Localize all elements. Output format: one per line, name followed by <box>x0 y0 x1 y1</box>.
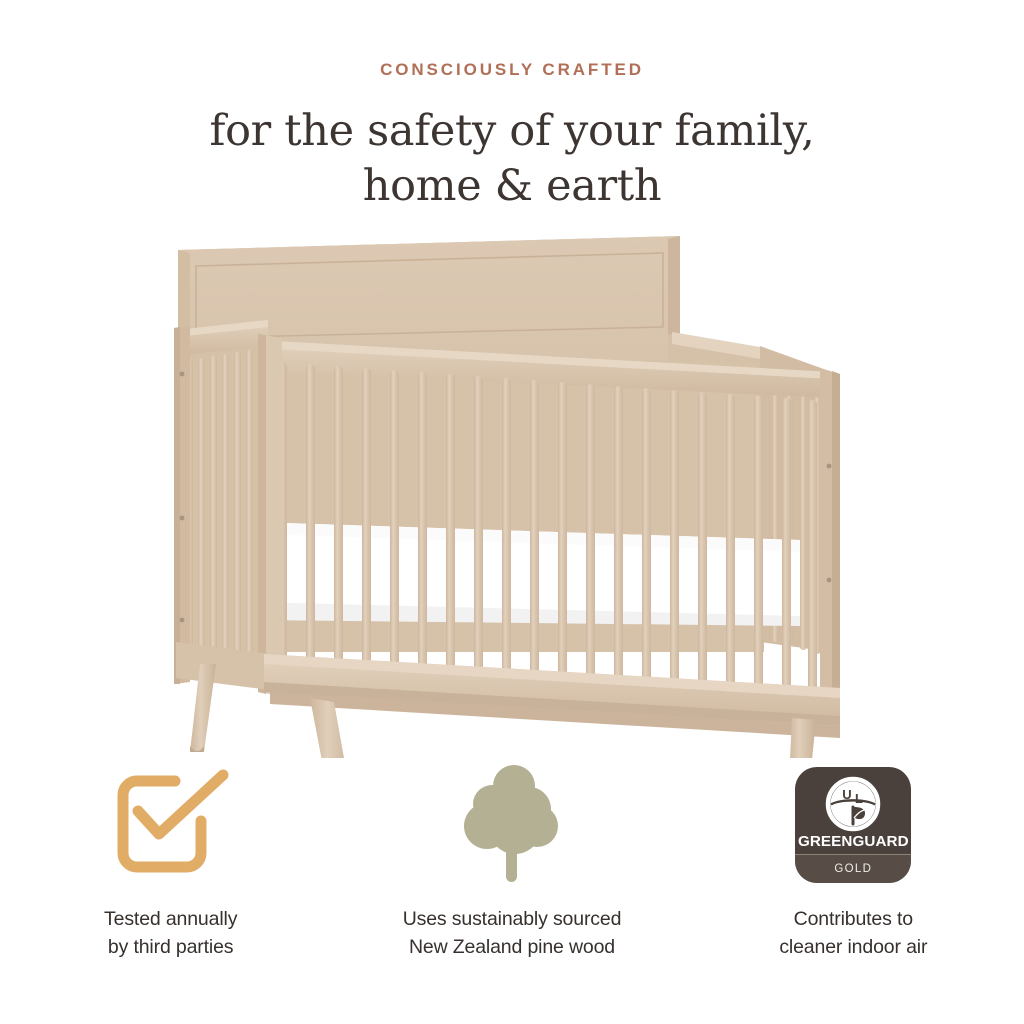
feature-caption: Tested annually by third parties <box>104 906 237 961</box>
feature-caption: Contributes to cleaner indoor air <box>779 906 927 961</box>
feature-tested-annually: Tested annually by third parties <box>0 762 341 961</box>
caption-line-1: Tested annually <box>104 908 237 930</box>
headline-line-2: home & earth <box>0 159 1024 214</box>
tree-icon <box>457 762 567 888</box>
feature-row: Tested annually by third parties <box>0 762 1024 961</box>
svg-text:L: L <box>855 791 863 806</box>
caption-line-2: New Zealand pine wood <box>403 934 622 962</box>
ul-leaf-mark-icon: U L <box>825 776 881 832</box>
feature-cleaner-air: U L GREENGUARD GOLD <box>683 762 1024 961</box>
page-title: for the safety of your family, home & ea… <box>0 104 1024 215</box>
promo-graphic: CONSCIOUSLY CRAFTED for the safety of yo… <box>0 0 1024 1024</box>
headline-line-1: for the safety of your family, <box>209 106 814 156</box>
feature-caption: Uses sustainably sourced New Zealand pin… <box>403 906 622 961</box>
greenguard-badge: U L GREENGUARD GOLD <box>795 767 911 883</box>
caption-line-1: Contributes to <box>794 908 913 930</box>
eyebrow-text: CONSCIOUSLY CRAFTED <box>0 60 1024 80</box>
caption-line-2: cleaner indoor air <box>779 934 927 962</box>
greenguard-gold-badge-icon: U L GREENGUARD GOLD <box>795 762 911 888</box>
badge-name: GREENGUARD <box>798 833 909 850</box>
checkbox-check-icon <box>111 762 231 888</box>
badge-tier: GOLD <box>834 863 872 875</box>
badge-tier-band: GOLD <box>795 855 911 883</box>
feature-sustainable-wood: Uses sustainably sourced New Zealand pin… <box>341 762 682 961</box>
caption-line-2: by third parties <box>104 934 237 962</box>
caption-line-1: Uses sustainably sourced <box>403 908 622 930</box>
crib-product-image <box>160 222 866 758</box>
